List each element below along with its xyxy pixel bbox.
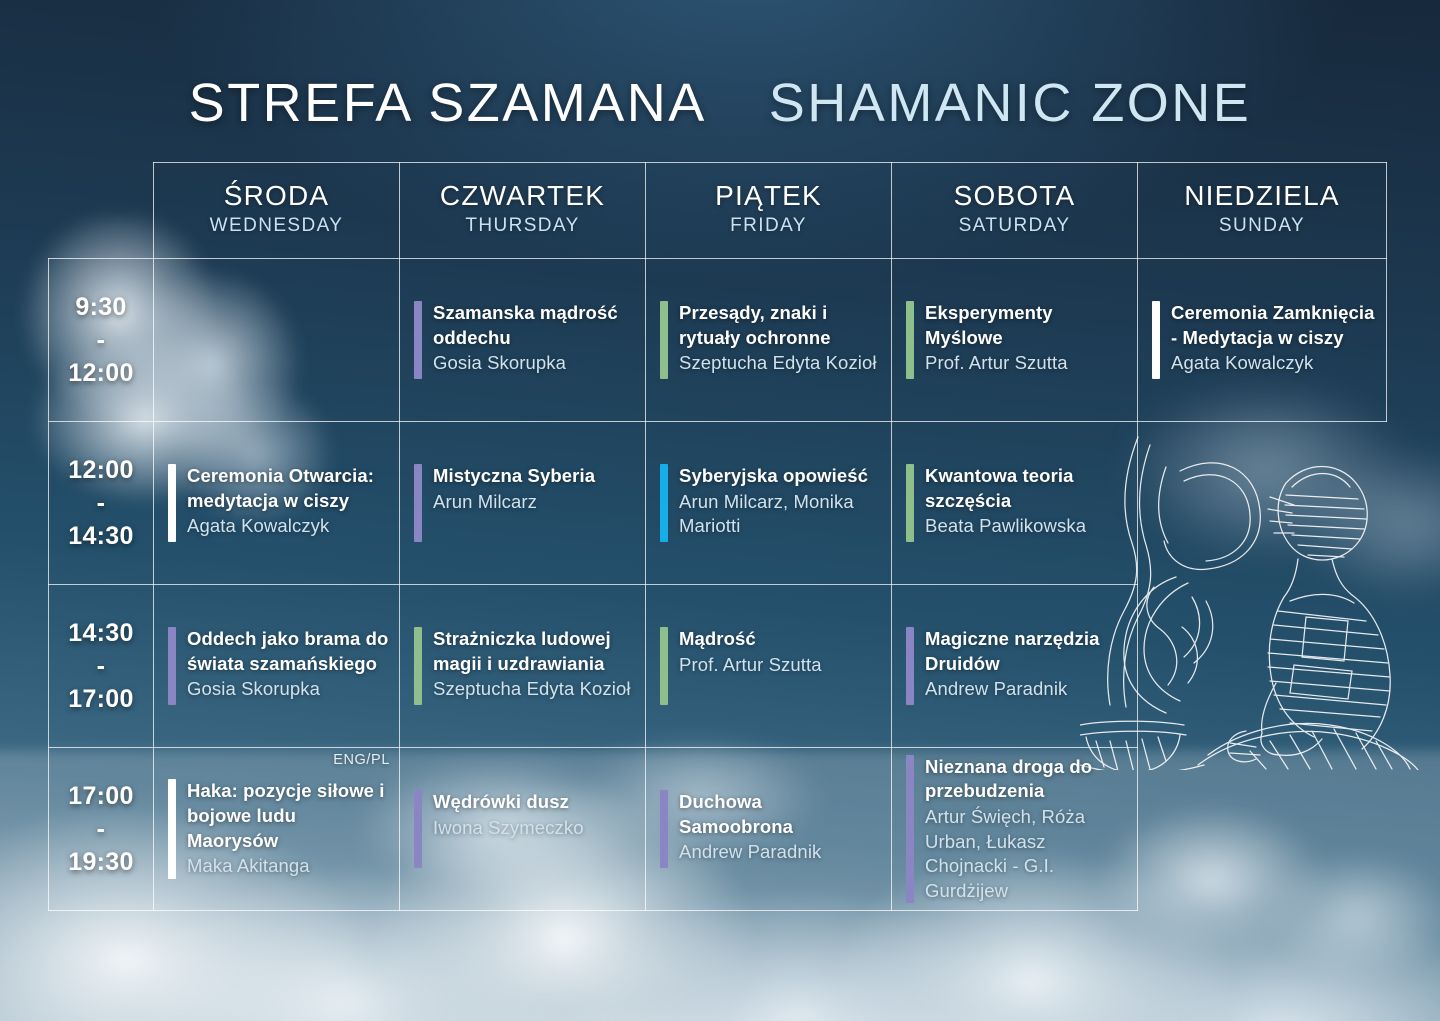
event-accent-bar bbox=[414, 627, 422, 705]
time-start: 17:00 bbox=[68, 782, 133, 810]
event-text: Wędrówki duszIwona Szymeczko bbox=[433, 790, 635, 868]
day-name-polish: PIĄTEK bbox=[650, 179, 887, 212]
event-accent-bar bbox=[906, 627, 914, 705]
event-speaker: Iwona Szymeczko bbox=[433, 816, 635, 841]
event-accent-bar bbox=[1152, 301, 1160, 379]
day-header-friday: PIĄTEK FRIDAY bbox=[646, 163, 892, 259]
time-dash: - bbox=[49, 324, 153, 357]
schedule-row: 12:00-14:30Ceremonia Otwarcia: medytacja… bbox=[49, 422, 1387, 585]
event-text: Mistyczna SyberiaArun Milcarz bbox=[433, 464, 635, 542]
event-accent-bar bbox=[660, 790, 668, 868]
day-header-sunday: NIEDZIELA SUNDAY bbox=[1138, 163, 1387, 259]
event-speaker: Prof. Artur Szutta bbox=[679, 653, 881, 678]
empty-cell-sunday bbox=[1138, 422, 1387, 585]
title-polish: STREFA SZAMANA bbox=[189, 76, 707, 130]
event-speaker: Arun Milcarz, Monika Mariotti bbox=[679, 490, 881, 539]
event-text: Nieznana droga do przebudzeniaArtur Świę… bbox=[925, 755, 1127, 904]
event-cell-friday[interactable]: Syberyjska opowieśćArun Milcarz, Monika … bbox=[646, 422, 892, 585]
event-accent-bar bbox=[660, 464, 668, 542]
event-title: Mistyczna Syberia bbox=[433, 464, 635, 489]
event-entry: Duchowa SamoobronaAndrew Paradnik bbox=[660, 790, 881, 868]
event-accent-bar bbox=[660, 301, 668, 379]
event-cell-sunday[interactable]: Ceremonia Zamknięcia - Medytacja w ciszy… bbox=[1138, 259, 1387, 422]
day-name-english: THURSDAY bbox=[404, 213, 641, 239]
event-accent-bar bbox=[414, 464, 422, 542]
schedule-grid: ŚRODA WEDNESDAY CZWARTEK THURSDAY PIĄTEK… bbox=[48, 162, 1386, 911]
event-entry: Nieznana droga do przebudzeniaArtur Świę… bbox=[906, 755, 1127, 904]
event-entry: Kwantowa teoria szczęściaBeata Pawlikows… bbox=[906, 464, 1127, 542]
event-cell-wednesday[interactable]: ENG/PLHaka: pozycje siłowe i bojowe ludu… bbox=[154, 748, 400, 911]
event-speaker: Artur Święch, Róża Urban, Łukasz Chojnac… bbox=[925, 805, 1127, 903]
day-header-thursday: CZWARTEK THURSDAY bbox=[400, 163, 646, 259]
time-end: 14:30 bbox=[68, 522, 133, 550]
event-cell-thursday[interactable]: Szamanska mądrość oddechuGosia Skorupka bbox=[400, 259, 646, 422]
event-title: Oddech jako brama do świata szamańskiego bbox=[187, 627, 389, 676]
empty-cell-sunday bbox=[1138, 748, 1387, 911]
event-cell-saturday[interactable]: Magiczne narzędzia DruidówAndrew Paradni… bbox=[892, 585, 1138, 748]
schedule-row: 9:30-12:00Szamanska mądrość oddechuGosia… bbox=[49, 259, 1387, 422]
schedule-table-head: ŚRODA WEDNESDAY CZWARTEK THURSDAY PIĄTEK… bbox=[49, 163, 1387, 259]
event-cell-saturday[interactable]: Kwantowa teoria szczęściaBeata Pawlikows… bbox=[892, 422, 1138, 585]
event-speaker: Beata Pawlikowska bbox=[925, 514, 1127, 539]
schedule-table-body: 9:30-12:00Szamanska mądrość oddechuGosia… bbox=[49, 259, 1387, 911]
event-speaker: Szeptucha Edyta Kozioł bbox=[679, 351, 881, 376]
event-title: Eksperymenty Myślowe bbox=[925, 301, 1127, 350]
event-text: Magiczne narzędzia DruidówAndrew Paradni… bbox=[925, 627, 1127, 705]
day-name-english: SATURDAY bbox=[896, 213, 1133, 239]
time-slot-cell: 14:30-17:00 bbox=[49, 585, 154, 748]
event-speaker: Arun Milcarz bbox=[433, 490, 635, 515]
event-speaker: Agata Kowalczyk bbox=[1171, 351, 1376, 376]
event-title: Szamanska mądrość oddechu bbox=[433, 301, 635, 350]
event-entry: Wędrówki duszIwona Szymeczko bbox=[414, 790, 635, 868]
event-text: MądrośćProf. Artur Szutta bbox=[679, 627, 881, 705]
schedule-table: ŚRODA WEDNESDAY CZWARTEK THURSDAY PIĄTEK… bbox=[48, 162, 1387, 911]
event-text: Oddech jako brama do świata szamańskiego… bbox=[187, 627, 389, 705]
day-name-polish: SOBOTA bbox=[896, 179, 1133, 212]
language-tag: ENG/PL bbox=[333, 752, 390, 768]
time-start: 14:30 bbox=[68, 619, 133, 647]
event-entry: Haka: pozycje siłowe i bojowe ludu Maory… bbox=[168, 779, 389, 878]
day-name-polish: NIEDZIELA bbox=[1142, 179, 1382, 212]
event-speaker: Maka Akitanga bbox=[187, 854, 389, 879]
event-entry: Syberyjska opowieśćArun Milcarz, Monika … bbox=[660, 464, 881, 542]
time-dash: - bbox=[49, 487, 153, 520]
event-cell-thursday[interactable]: Mistyczna SyberiaArun Milcarz bbox=[400, 422, 646, 585]
event-accent-bar bbox=[906, 755, 914, 904]
event-cell-saturday[interactable]: Eksperymenty MyśloweProf. Artur Szutta bbox=[892, 259, 1138, 422]
schedule-row: 17:00-19:30ENG/PLHaka: pozycje siłowe i … bbox=[49, 748, 1387, 911]
time-slot-cell: 17:00-19:30 bbox=[49, 748, 154, 911]
event-cell-wednesday[interactable]: Oddech jako brama do świata szamańskiego… bbox=[154, 585, 400, 748]
event-speaker: Andrew Paradnik bbox=[679, 840, 881, 865]
event-entry: Magiczne narzędzia DruidówAndrew Paradni… bbox=[906, 627, 1127, 705]
day-name-polish: CZWARTEK bbox=[404, 179, 641, 212]
day-name-polish: ŚRODA bbox=[158, 179, 395, 212]
time-end: 19:30 bbox=[68, 848, 133, 876]
event-text: Kwantowa teoria szczęściaBeata Pawlikows… bbox=[925, 464, 1127, 542]
time-slot-cell: 9:30-12:00 bbox=[49, 259, 154, 422]
day-header-saturday: SOBOTA SATURDAY bbox=[892, 163, 1138, 259]
event-speaker: Gosia Skorupka bbox=[433, 351, 635, 376]
day-name-english: FRIDAY bbox=[650, 213, 887, 239]
poster-background: STREFA SZAMANASHAMANIC ZONE ŚRODA WEDNES… bbox=[0, 0, 1440, 1021]
event-accent-bar bbox=[906, 301, 914, 379]
event-accent-bar bbox=[168, 464, 176, 542]
time-start: 9:30 bbox=[75, 293, 126, 321]
empty-cell-sunday bbox=[1138, 585, 1387, 748]
event-entry: Eksperymenty MyśloweProf. Artur Szutta bbox=[906, 301, 1127, 379]
event-entry: Ceremonia Zamknięcia - Medytacja w ciszy… bbox=[1152, 301, 1376, 379]
schedule-row: 14:30-17:00Oddech jako brama do świata s… bbox=[49, 585, 1387, 748]
event-cell-friday[interactable]: Duchowa SamoobronaAndrew Paradnik bbox=[646, 748, 892, 911]
day-header-row: ŚRODA WEDNESDAY CZWARTEK THURSDAY PIĄTEK… bbox=[49, 163, 1387, 259]
event-accent-bar bbox=[414, 790, 422, 868]
event-title: Nieznana droga do przebudzenia bbox=[925, 755, 1127, 804]
event-title: Przesądy, znaki i rytuały ochronne bbox=[679, 301, 881, 350]
event-cell-wednesday[interactable]: Ceremonia Otwarcia: medytacja w ciszyAga… bbox=[154, 422, 400, 585]
event-accent-bar bbox=[168, 779, 176, 878]
event-title: Kwantowa teoria szczęścia bbox=[925, 464, 1127, 513]
event-title: Ceremonia Otwarcia: medytacja w ciszy bbox=[187, 464, 389, 513]
time-start: 12:00 bbox=[68, 456, 133, 484]
event-accent-bar bbox=[168, 627, 176, 705]
event-cell-friday[interactable]: MądrośćProf. Artur Szutta bbox=[646, 585, 892, 748]
corner-cell bbox=[49, 163, 154, 259]
event-cell-friday[interactable]: Przesądy, znaki i rytuały ochronneSzeptu… bbox=[646, 259, 892, 422]
day-name-english: WEDNESDAY bbox=[158, 213, 395, 239]
event-entry: Przesądy, znaki i rytuały ochronneSzeptu… bbox=[660, 301, 881, 379]
event-title: Wędrówki dusz bbox=[433, 790, 635, 815]
event-text: Przesądy, znaki i rytuały ochronneSzeptu… bbox=[679, 301, 881, 379]
event-title: Magiczne narzędzia Druidów bbox=[925, 627, 1127, 676]
event-entry: Strażniczka ludowej magii i uzdrawianiaS… bbox=[414, 627, 635, 705]
event-text: Szamanska mądrość oddechuGosia Skorupka bbox=[433, 301, 635, 379]
event-speaker: Agata Kowalczyk bbox=[187, 514, 389, 539]
poster-title: STREFA SZAMANASHAMANIC ZONE bbox=[0, 76, 1440, 130]
event-entry: Mistyczna SyberiaArun Milcarz bbox=[414, 464, 635, 542]
time-dash: - bbox=[49, 813, 153, 846]
event-title: Mądrość bbox=[679, 627, 881, 652]
event-text: Ceremonia Zamknięcia - Medytacja w ciszy… bbox=[1171, 301, 1376, 379]
event-speaker: Prof. Artur Szutta bbox=[925, 351, 1127, 376]
empty-cell-wednesday bbox=[154, 259, 400, 422]
event-accent-bar bbox=[414, 301, 422, 379]
event-title: Syberyjska opowieść bbox=[679, 464, 881, 489]
event-title: Duchowa Samoobrona bbox=[679, 790, 881, 839]
event-title: Haka: pozycje siłowe i bojowe ludu Maory… bbox=[187, 779, 389, 853]
event-entry: MądrośćProf. Artur Szutta bbox=[660, 627, 881, 705]
time-dash: - bbox=[49, 650, 153, 683]
time-end: 17:00 bbox=[68, 685, 133, 713]
event-title: Ceremonia Zamknięcia - Medytacja w ciszy bbox=[1171, 301, 1376, 350]
event-text: Haka: pozycje siłowe i bojowe ludu Maory… bbox=[187, 779, 389, 878]
title-english: SHAMANIC ZONE bbox=[769, 76, 1252, 130]
event-text: Ceremonia Otwarcia: medytacja w ciszyAga… bbox=[187, 464, 389, 542]
event-accent-bar bbox=[906, 464, 914, 542]
time-end: 12:00 bbox=[68, 359, 133, 387]
event-entry: Ceremonia Otwarcia: medytacja w ciszyAga… bbox=[168, 464, 389, 542]
event-title: Strażniczka ludowej magii i uzdrawiania bbox=[433, 627, 635, 676]
event-speaker: Andrew Paradnik bbox=[925, 677, 1127, 702]
event-text: Syberyjska opowieśćArun Milcarz, Monika … bbox=[679, 464, 881, 542]
event-speaker: Gosia Skorupka bbox=[187, 677, 389, 702]
event-entry: Szamanska mądrość oddechuGosia Skorupka bbox=[414, 301, 635, 379]
time-slot-cell: 12:00-14:30 bbox=[49, 422, 154, 585]
event-text: Strażniczka ludowej magii i uzdrawianiaS… bbox=[433, 627, 635, 705]
event-cell-thursday[interactable]: Wędrówki duszIwona Szymeczko bbox=[400, 748, 646, 911]
day-header-wednesday: ŚRODA WEDNESDAY bbox=[154, 163, 400, 259]
event-speaker: Szeptucha Edyta Kozioł bbox=[433, 677, 635, 702]
event-text: Duchowa SamoobronaAndrew Paradnik bbox=[679, 790, 881, 868]
event-cell-saturday[interactable]: Nieznana droga do przebudzeniaArtur Świę… bbox=[892, 748, 1138, 911]
day-name-english: SUNDAY bbox=[1142, 213, 1382, 239]
event-cell-thursday[interactable]: Strażniczka ludowej magii i uzdrawianiaS… bbox=[400, 585, 646, 748]
event-text: Eksperymenty MyśloweProf. Artur Szutta bbox=[925, 301, 1127, 379]
event-entry: Oddech jako brama do świata szamańskiego… bbox=[168, 627, 389, 705]
event-accent-bar bbox=[660, 627, 668, 705]
